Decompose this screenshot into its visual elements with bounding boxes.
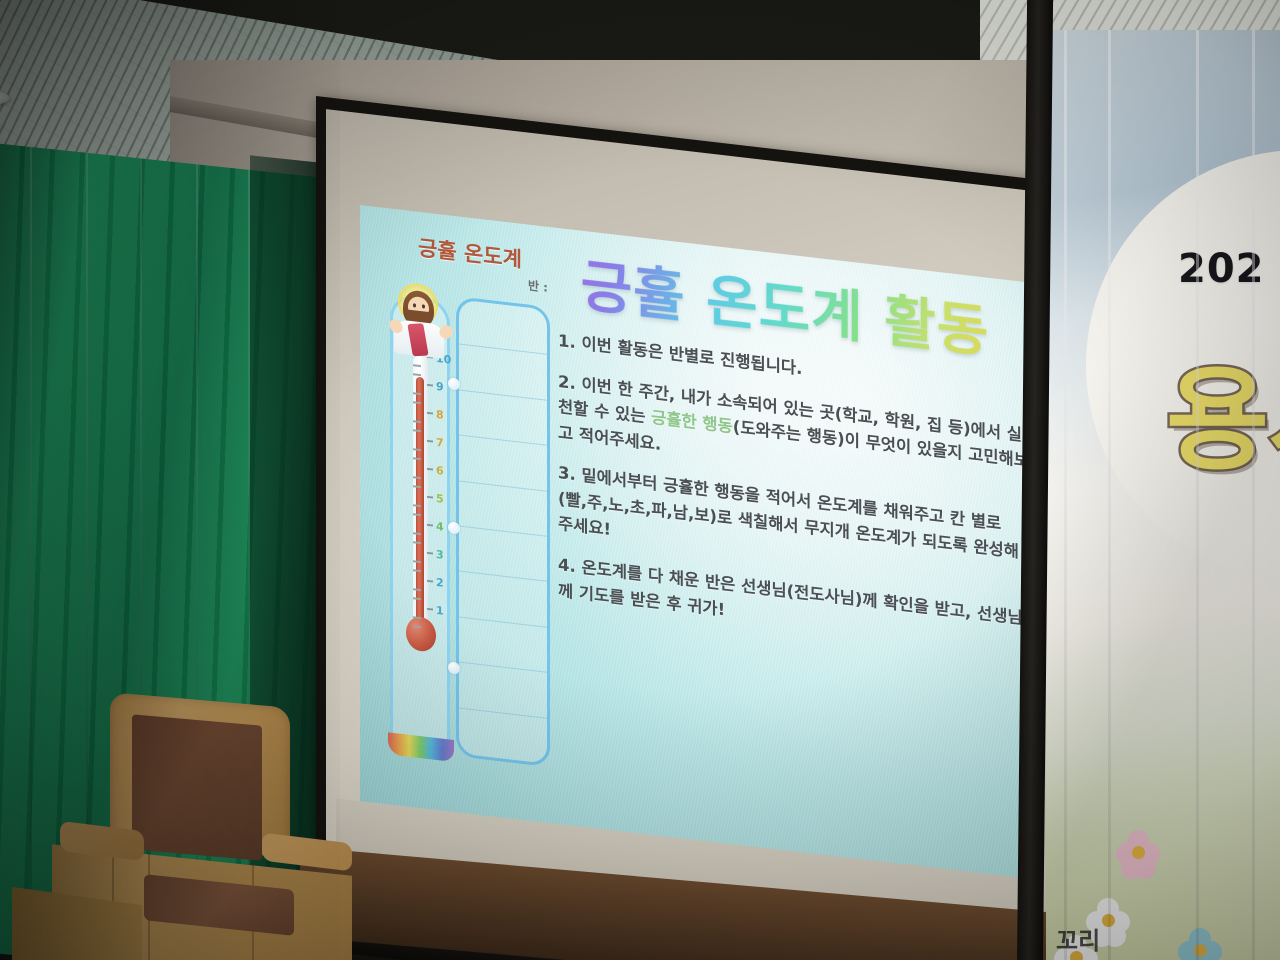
projection-screen: 긍휼 온도계 반 : 10987654321	[316, 96, 1058, 960]
worksheet-class-label: 반 :	[528, 277, 548, 296]
tick-label: 2	[436, 576, 444, 588]
thermometer-scale: 10987654321	[427, 352, 455, 635]
worksheet-body: 10987654321	[386, 282, 554, 771]
slide-body-text: 1. 이번 활동은 반별로 진행됩니다.2. 이번 한 주간, 내가 소속되어 …	[558, 328, 1030, 673]
thermometer-tick: 5	[427, 492, 455, 505]
thermometer-tick: 3	[427, 548, 455, 561]
flower-petal	[1134, 857, 1156, 879]
tick-dash	[427, 496, 433, 499]
worksheet-answer-rows	[456, 296, 550, 767]
event-banner: 202 용사 꼬리	[1046, 30, 1280, 960]
chair-armrest-right	[262, 832, 352, 871]
tick-dash	[427, 412, 433, 415]
highlighted-phrase: 긍휼한 행동	[651, 408, 733, 436]
tick-label: 8	[436, 408, 444, 420]
worksheet-preview: 긍휼 온도계 반 : 10987654321	[386, 220, 554, 799]
banner-bottom-text: 꼬리	[1056, 921, 1100, 956]
banner-cloth: 202 용사 꼬리	[1046, 30, 1280, 960]
flower-icon	[1116, 830, 1161, 875]
tick-label: 7	[436, 436, 444, 448]
thermometer-tick: 2	[427, 576, 455, 589]
thermometer-tick: 7	[427, 436, 455, 449]
answer-row	[459, 708, 547, 764]
thermometer-tick: 8	[427, 408, 455, 421]
tick-dash	[427, 384, 433, 387]
projected-slide: 긍휼 온도계 반 : 10987654321	[360, 205, 1038, 883]
tick-dash	[427, 552, 433, 555]
chair-back-cushion	[132, 714, 262, 860]
jesus-character-icon	[388, 278, 454, 360]
tick-label: 9	[436, 380, 444, 392]
banner-main-text: 용사	[1166, 330, 1280, 492]
worksheet-title: 긍휼 온도계	[392, 229, 548, 277]
tick-label: 5	[436, 492, 444, 504]
ceiling-speaker-icon	[0, 91, 11, 105]
wooden-pulpit-chair	[52, 700, 352, 960]
tick-label: 3	[436, 548, 444, 560]
tick-label: 6	[436, 464, 444, 476]
tick-dash	[427, 524, 433, 527]
flower-icon	[1178, 928, 1223, 960]
thermometer: 10987654321	[390, 293, 450, 752]
flower-center	[1132, 846, 1145, 859]
tick-dash	[427, 608, 433, 611]
tick-label: 1	[436, 604, 444, 616]
screen-surface: 긍휼 온도계 반 : 10987654321	[326, 109, 1048, 960]
room-photo: 긍휼 온도계 반 : 10987654321	[0, 0, 1280, 960]
tick-dash	[427, 468, 433, 471]
thermometer-tick: 1	[427, 604, 455, 617]
tick-dash	[427, 440, 433, 443]
thermometer-tick: 6	[427, 464, 455, 477]
tick-dash	[427, 580, 433, 583]
tick-label: 4	[436, 520, 444, 532]
